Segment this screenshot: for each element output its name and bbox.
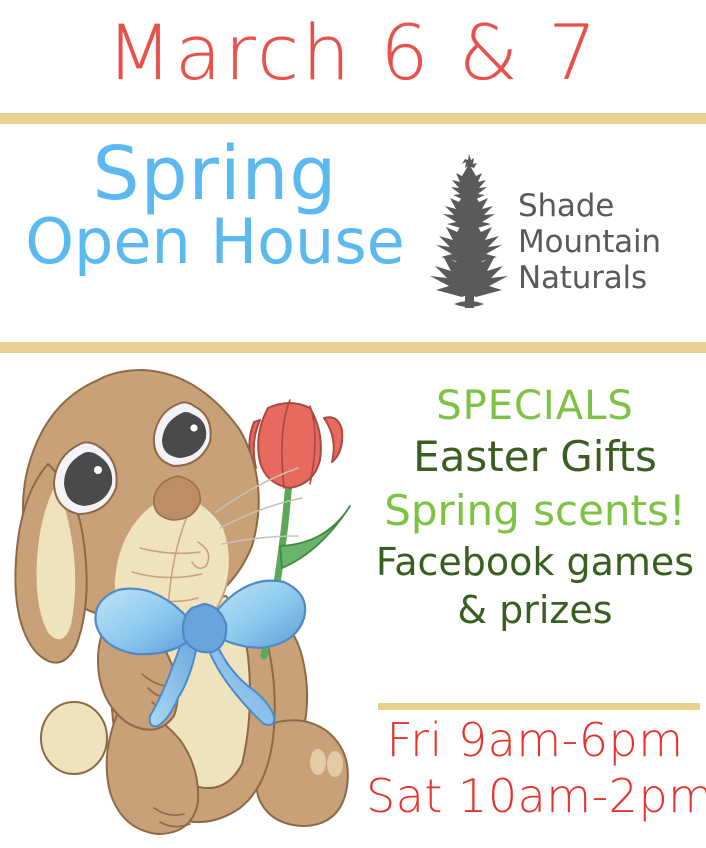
brand-name: Shade Mountain Naturals <box>518 188 661 296</box>
divider-top <box>0 113 706 124</box>
bunny-with-tulip-graphic <box>2 356 378 842</box>
bunny-illustration <box>2 356 378 842</box>
divider-hours <box>378 703 700 710</box>
hours-block: Fri 9am-6pm Sat 10am-2pm <box>366 712 704 824</box>
brand-name-line1: Shade <box>518 188 661 224</box>
specials-item-facebook-games: Facebook games <box>368 538 702 586</box>
tulip-flower <box>249 400 342 488</box>
specials-block: SPECIALS Easter Gifts Spring scents! Fac… <box>368 382 702 634</box>
brand-name-line3: Naturals <box>518 260 661 296</box>
divider-middle <box>0 342 706 353</box>
brand-logo: Shade Mountain Naturals <box>424 152 694 312</box>
brand-name-line2: Mountain <box>518 224 661 260</box>
specials-item-easter-gifts: Easter Gifts <box>368 430 702 484</box>
poster-root: March 6 & 7 Spring Open House Shade Moun… <box>0 0 706 848</box>
specials-item-spring-scents: Spring scents! <box>368 484 702 538</box>
tulip-leaf-right <box>280 506 350 568</box>
pine-tree-icon <box>424 152 516 310</box>
event-title-block: Spring Open House <box>0 132 430 332</box>
specials-item-prizes: & prizes <box>368 586 702 634</box>
hours-friday: Fri 9am-6pm <box>366 712 704 768</box>
specials-heading: SPECIALS <box>368 382 702 430</box>
event-title-line2: Open House <box>0 204 430 280</box>
bunny-tail <box>41 702 107 774</box>
page-title: March 6 & 7 <box>0 6 706 100</box>
hours-saturday: Sat 10am-2pm <box>366 768 704 824</box>
